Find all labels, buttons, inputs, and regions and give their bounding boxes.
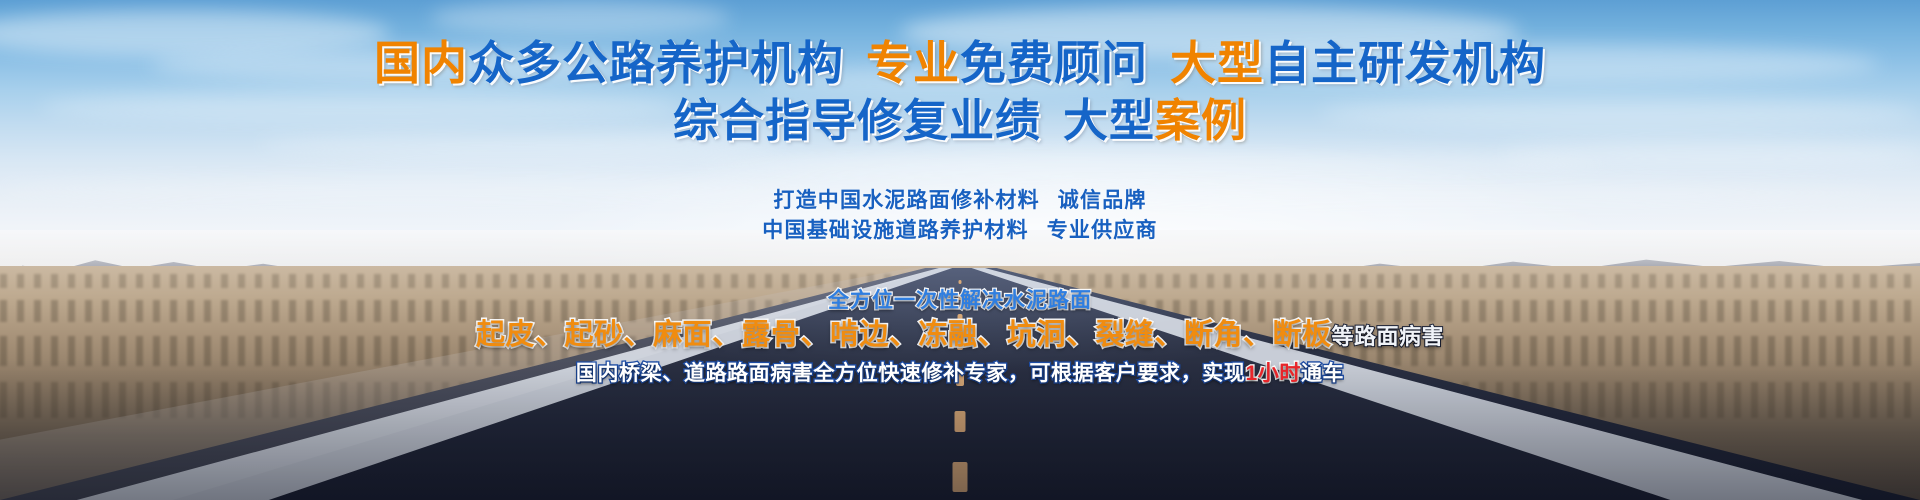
headline-segment: 国内 [374, 37, 468, 89]
damage-list-line: 起皮、起砂、麻面、露骨、啃边、冻融、坑洞、裂缝、断角、断板等路面病害 [0, 317, 1920, 355]
promise-line: 国内桥梁、道路路面病害全方位快速修补专家，可根据客户要求，实现1小时通车 [0, 360, 1920, 387]
cloud-shape [700, 152, 1600, 178]
tagline: 全方位一次性解决水泥路面 [0, 288, 1920, 314]
headline-block: 国内众多公路养护机构专业免费顾问大型自主研发机构 综合指导修复业绩大型案例 [0, 40, 1920, 155]
subhead-line-1: 打造中国水泥路面修补材料诚信品牌 [0, 186, 1920, 216]
headline-segment: 免费顾问 [960, 37, 1148, 89]
headline-segment: 大型 [1170, 37, 1264, 89]
headline-segment: 众多公路养护机构 [468, 37, 844, 89]
damage-list: 起皮、起砂、麻面、露骨、啃边、冻融、坑洞、裂缝、断角、断板 [476, 319, 1332, 351]
subhead-segment: 中国基础设施道路养护材料 [762, 219, 1028, 242]
headline-segment: 案例 [1155, 95, 1247, 146]
headline-line-2: 综合指导修复业绩大型案例 [0, 98, 1920, 143]
promise-highlight: 1小时 [1245, 362, 1300, 385]
subhead-block: 打造中国水泥路面修补材料诚信品牌 中国基础设施道路养护材料专业供应商 [0, 186, 1920, 246]
damage-list-suffix: 等路面病害 [1332, 324, 1445, 349]
headline-segment: 专业 [866, 37, 960, 89]
promise-prefix: 国内桥梁、道路路面病害全方位快速修补专家，可根据客户要求，实现 [576, 362, 1246, 385]
subhead-line-2: 中国基础设施道路养护材料专业供应商 [0, 216, 1920, 246]
subhead-segment: 诚信品牌 [1058, 189, 1147, 212]
headline-segment: 综合指导修复业绩 [673, 95, 1041, 146]
subhead-segment: 打造中国水泥路面修补材料 [773, 189, 1039, 212]
subhead-segment: 专业供应商 [1047, 219, 1158, 242]
promotional-banner: 国内众多公路养护机构专业免费顾问大型自主研发机构 综合指导修复业绩大型案例 打造… [0, 0, 1920, 500]
lower-text-block: 全方位一次性解决水泥路面 起皮、起砂、麻面、露骨、啃边、冻融、坑洞、裂缝、断角、… [0, 288, 1920, 387]
headline-segment: 自主研发机构 [1264, 37, 1546, 89]
promise-suffix: 通车 [1301, 362, 1344, 385]
center-dash [959, 280, 962, 284]
cloud-shape [430, 0, 730, 36]
headline-line-1: 国内众多公路养护机构专业免费顾问大型自主研发机构 [0, 40, 1920, 86]
headline-segment: 大型 [1063, 95, 1155, 146]
